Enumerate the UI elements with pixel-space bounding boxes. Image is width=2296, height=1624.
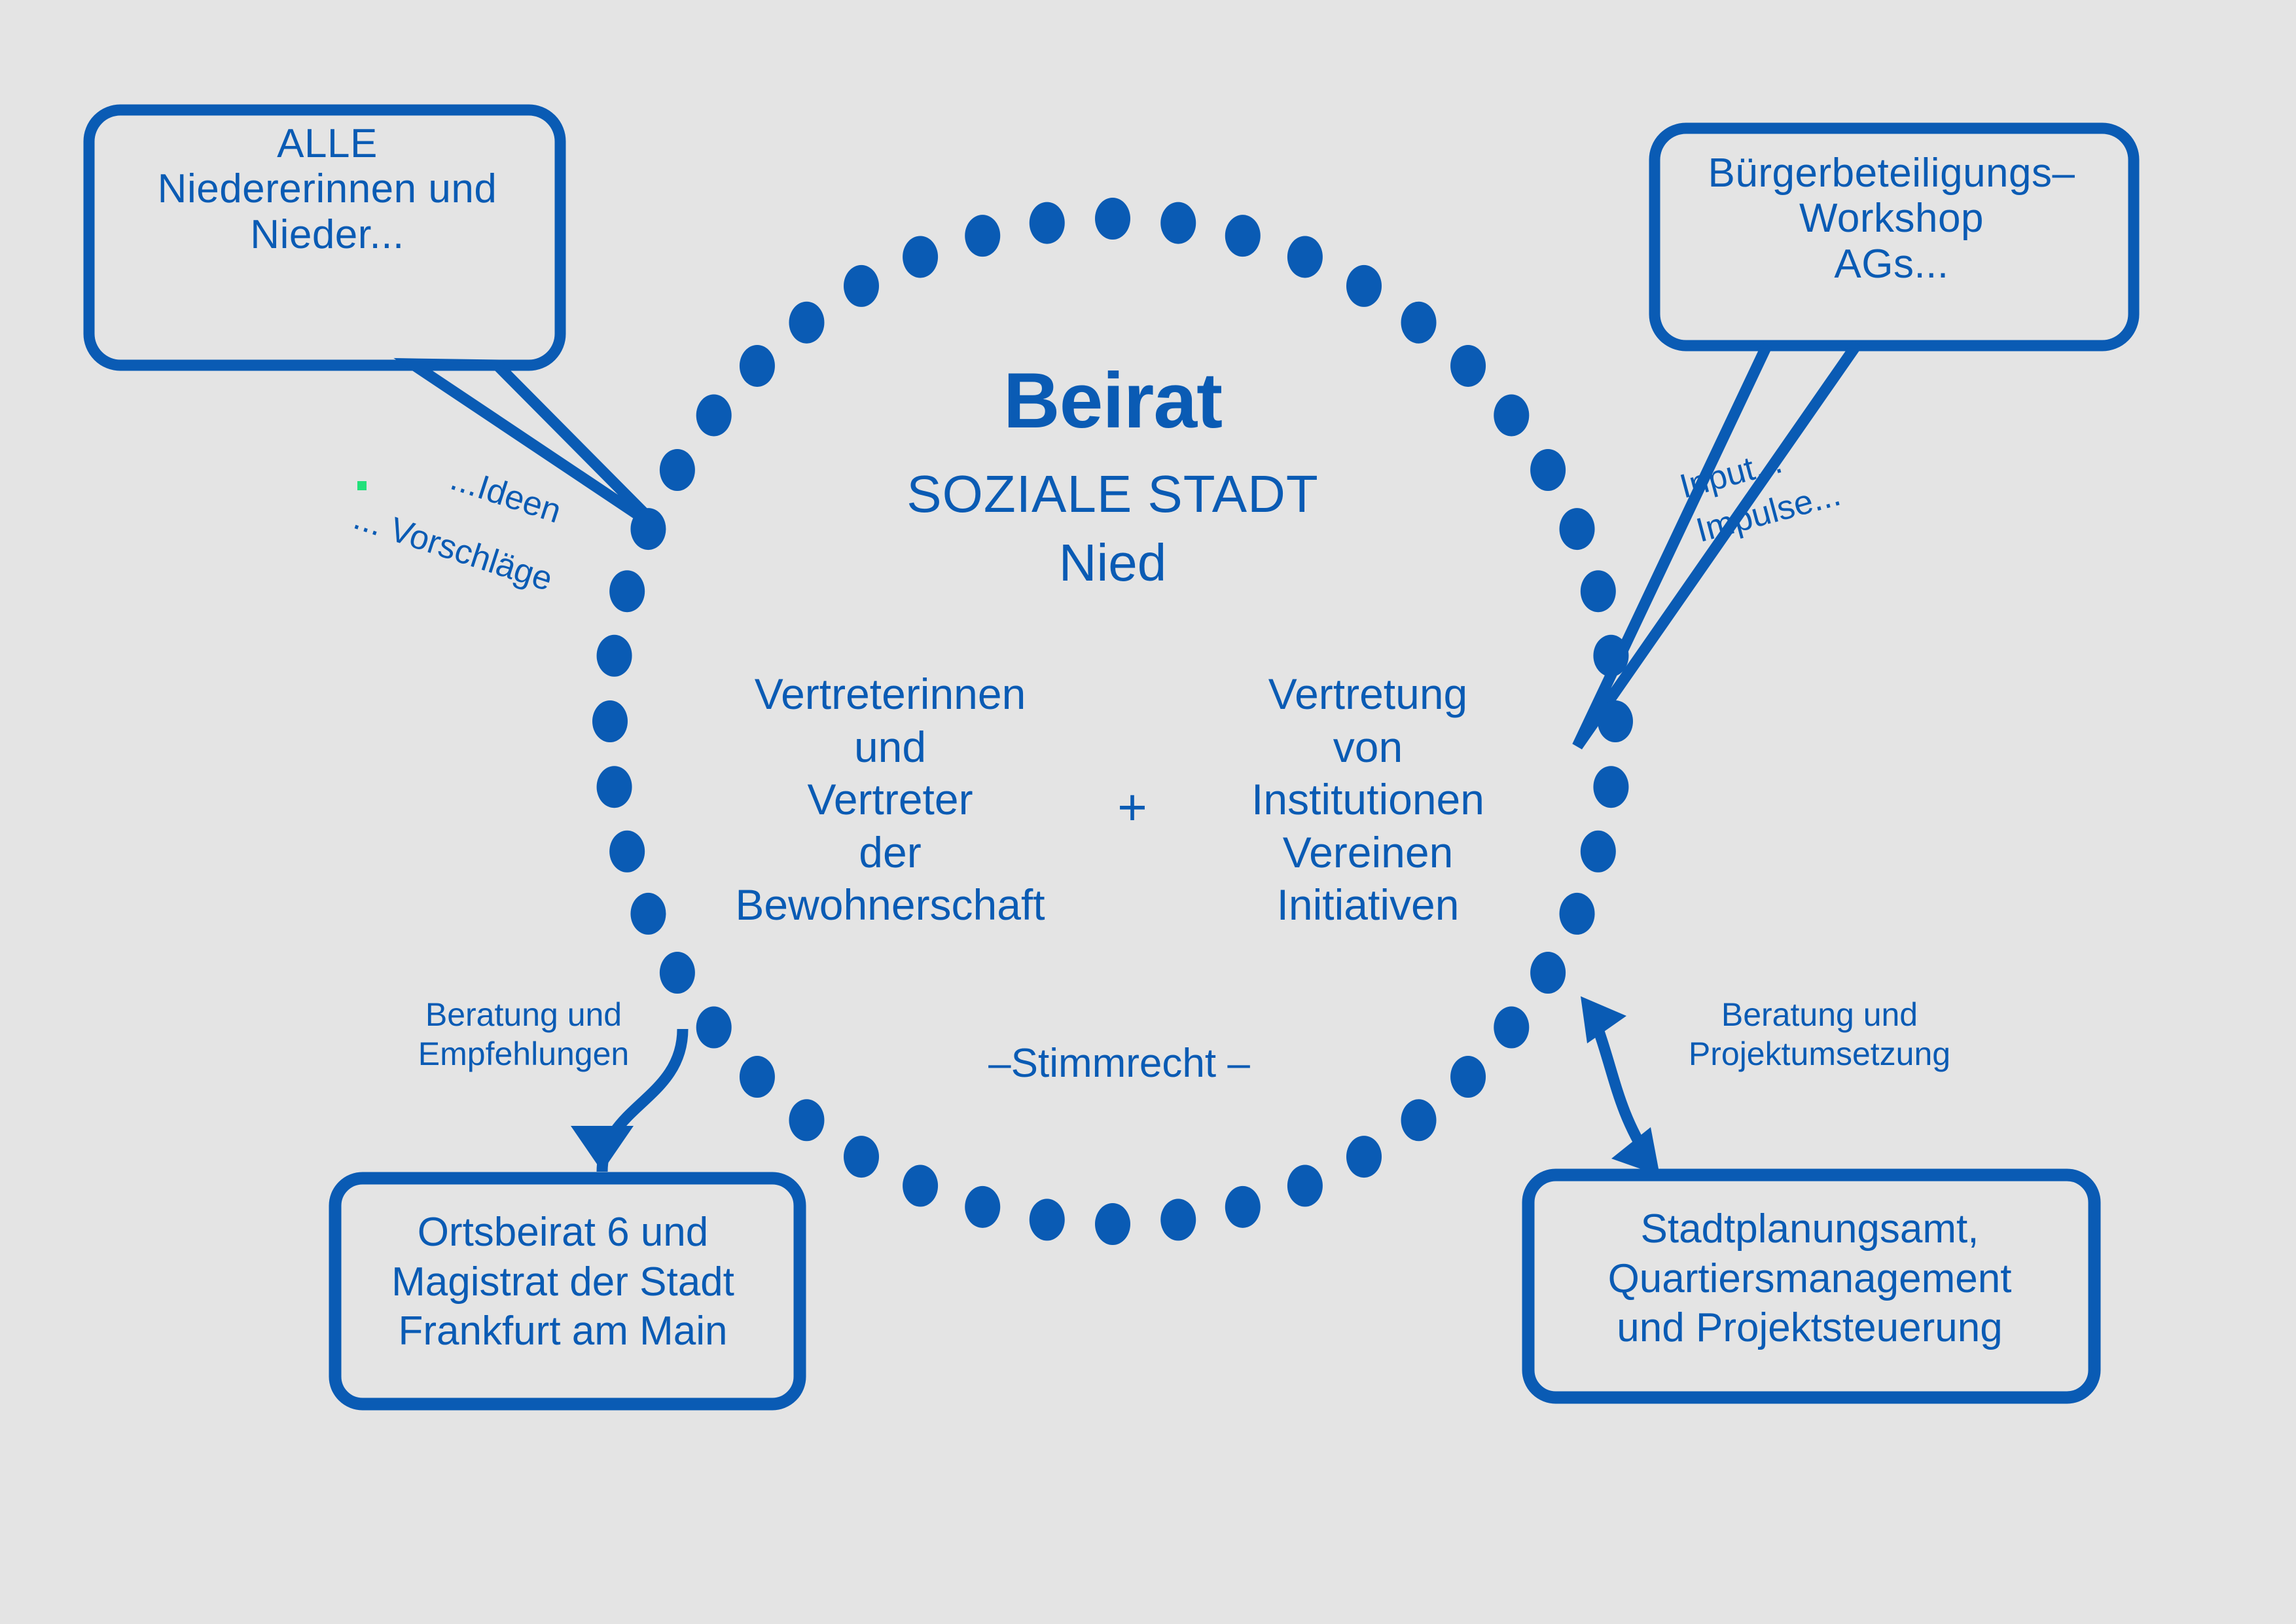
circle-dot xyxy=(696,394,732,436)
circle-dot xyxy=(1581,570,1616,612)
circle-dot xyxy=(630,893,666,935)
circle-dot xyxy=(1593,635,1628,677)
circle-dot xyxy=(789,302,824,344)
page-subtitle-line2: Nied xyxy=(825,533,1401,592)
page-subtitle-line1: SOZIALE STADT xyxy=(825,465,1401,524)
green-pixel-artifact xyxy=(357,481,367,490)
circle-dot xyxy=(1560,508,1595,550)
circle-dot xyxy=(1160,1199,1196,1240)
speech-bubble-top-left-label: ALLE Niedererinnen und Nieder... xyxy=(98,121,556,257)
circle-dot xyxy=(1598,700,1633,742)
circle-dot xyxy=(660,449,695,491)
arrow-left-head xyxy=(571,1126,634,1172)
label-beratung-empfehlungen: Beratung und Empfehlungen xyxy=(340,995,707,1074)
circle-dot xyxy=(630,508,666,550)
circle-dot xyxy=(1225,215,1261,257)
circle-dot xyxy=(609,570,645,612)
box-bottom-right-label: Stadtplanungsamt, Quartiersmanagement un… xyxy=(1538,1204,2081,1353)
circle-dot xyxy=(1346,265,1382,307)
circle-dot xyxy=(1494,394,1529,436)
circle-dot xyxy=(1401,302,1437,344)
circle-dot xyxy=(660,952,695,994)
circle-dot xyxy=(1095,1203,1130,1245)
page-title: Beirat xyxy=(825,357,1401,444)
circle-dot xyxy=(1560,893,1595,935)
center-column-left: Vertreterinnen und Vertreter der Bewohne… xyxy=(681,668,1100,931)
circle-dot xyxy=(592,700,628,742)
circle-dot xyxy=(1287,236,1323,278)
circle-dot xyxy=(1160,202,1196,244)
circle-dot xyxy=(609,831,645,873)
circle-dot xyxy=(740,345,775,387)
plus-sign: + xyxy=(1073,779,1191,836)
circle-dot xyxy=(1346,1136,1382,1178)
label-beratung-projektumsetzung: Beratung und Projektumsetzung xyxy=(1623,995,2016,1074)
circle-dot xyxy=(740,1056,775,1098)
speech-bubble-top-right-label: Bürgerbeteiligungs– Workshop AGs... xyxy=(1662,151,2121,287)
circle-dot xyxy=(903,236,938,278)
circle-dot xyxy=(965,1186,1000,1228)
circle-dot xyxy=(844,265,879,307)
center-column-right: Vertretung von Institutionen Vereinen In… xyxy=(1191,668,1545,931)
circle-dot xyxy=(1225,1186,1261,1228)
circle-dot xyxy=(903,1165,938,1207)
circle-dot xyxy=(1030,1199,1065,1240)
circle-dot xyxy=(1287,1165,1323,1207)
circle-dot xyxy=(1450,1056,1486,1098)
circle-dot xyxy=(1450,345,1486,387)
diagram-canvas: ALLE Niedererinnen und Nieder... Bürgerb… xyxy=(0,0,2296,1624)
circle-dot xyxy=(1030,202,1065,244)
circle-dot xyxy=(1593,766,1628,808)
circle-dot xyxy=(1581,831,1616,873)
box-bottom-left-label: Ortsbeirat 6 und Magistrat der Stadt Fra… xyxy=(334,1208,792,1356)
circle-dot xyxy=(597,766,632,808)
circle-dot xyxy=(965,215,1000,257)
circle-dot xyxy=(1530,952,1566,994)
circle-dot xyxy=(1494,1007,1529,1049)
circle-dot xyxy=(844,1136,879,1178)
circle-dot xyxy=(1530,449,1566,491)
circle-dot xyxy=(597,635,632,677)
circle-dot xyxy=(1095,198,1130,240)
circle-dot xyxy=(789,1099,824,1141)
circle-dot xyxy=(1401,1099,1437,1141)
stimmrecht-note: –Stimmrecht – xyxy=(916,1041,1322,1086)
